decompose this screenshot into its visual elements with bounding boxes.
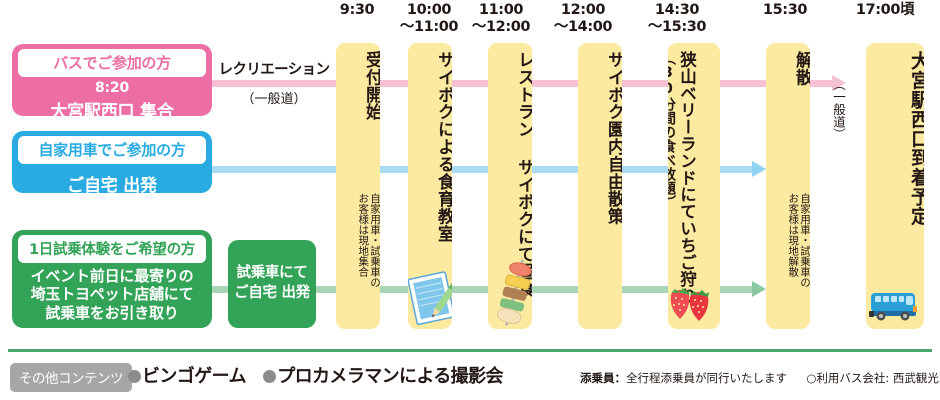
participant-box-testdrive[interactable]: 1日試乗体験をご希望の方 イベント前日に最寄りの 埼玉トヨペット店舗にて 試乗車… [12,230,212,328]
time-header-6: 15:30 [742,2,828,19]
bullet-icon [263,370,276,383]
participant-heading: 1日試乗体験をご希望の方 [18,235,206,263]
time-header-4: 12:00 ～14:00 [540,2,626,36]
recreation-route-note: （一般道） [218,88,330,107]
activity-column-free-walk[interactable]: サイボク園内自由散策 [578,43,622,329]
arrow-head-car [752,161,766,177]
notebook-pencil-icon [408,267,452,327]
bus-icon [868,289,922,323]
activity-title: 大宮駅西口到着予定 [870,51,924,325]
activity-subnote: 自家用車・試乗車の お客様は現地集合 [336,193,380,321]
testdrive-departure-box[interactable]: 試乗車にて ご自宅 出発 [228,240,316,328]
activity-column-reception[interactable]: 受付開始 自家用車・試乗車の お客様は現地集合 [336,43,380,329]
participant-place: 大宮駅西口 集合 [12,96,212,122]
time-header-7: 17:00頃 [842,2,928,19]
food-skewer-icon [494,257,532,329]
activity-title: サイボク園内自由散策 [578,51,622,325]
bullet-icon [128,370,141,383]
activity-column-strawberry-picking[interactable]: 狭山ベリーランドにていちご狩り （30分間の食べ放題） [668,43,720,329]
activity-column-food-class[interactable]: サイボクによる食育教室 [408,43,452,329]
activity-subnote: 自家用車・試乗車の お客様は現地解散 [766,193,810,321]
activity-column-lunch[interactable]: レストラン サイボクにて昼食 [488,43,532,329]
time-header-3: 11:00 ～12:00 [458,2,544,36]
schedule-infographic: 9:30 10:00 ～11:00 11:00 ～12:00 12:00 ～14… [0,0,940,400]
participant-time: 8:20 [12,77,212,96]
footer-bus-company: ○利用バス会社: 西武観光バス [806,371,940,385]
recreation-label: レクリエーション [218,58,330,79]
activity-column-arrival[interactable]: 大宮駅西口到着予定 [866,43,924,329]
footer-attendant-text: 全行程添乗員が同行いたします [626,371,787,385]
testdrive-departure-label: 試乗車にて ご自宅 出発 [234,264,310,303]
participant-heading: バスでご参加の方 [18,49,206,77]
footer-badge: その他コンテンツ [10,363,132,392]
footer-note: 添乗員：全行程添乗員が同行いたします ○利用バス会社: 西武観光バス [580,370,940,386]
participant-place: イベント前日に最寄りの 埼玉トヨペット店舗にて 試乗車をお引き取り [12,263,212,322]
activity-paren-note: （30分間の食べ放題） [668,51,678,209]
footer-item-bingo: ビンゴゲーム [142,366,246,387]
footer-item-photo: プロカメラマンによる撮影会 [277,366,503,387]
participant-box-car[interactable]: 自家用車でご参加の方 ご自宅 出発 [12,131,212,193]
footer-attendant-label: 添乗員： [580,371,626,385]
strawberry-icon [668,279,715,323]
time-header-5: 14:30 ～15:30 [634,2,720,36]
return-route-note: （一般道） [826,78,848,141]
participant-box-bus[interactable]: バスでご参加の方 8:20 大宮駅西口 集合 [12,44,212,116]
footer-content-list: ビンゴゲーム プロカメラマンによる撮影会 [128,362,503,388]
activity-column-dismissal[interactable]: 解散 自家用車・試乗車の お客様は現地解散 [766,43,810,329]
footer-divider [8,349,932,352]
arrow-head-testdrive [752,281,766,297]
participant-place: ご自宅 出発 [12,164,212,196]
participant-heading: 自家用車でご参加の方 [18,136,206,164]
